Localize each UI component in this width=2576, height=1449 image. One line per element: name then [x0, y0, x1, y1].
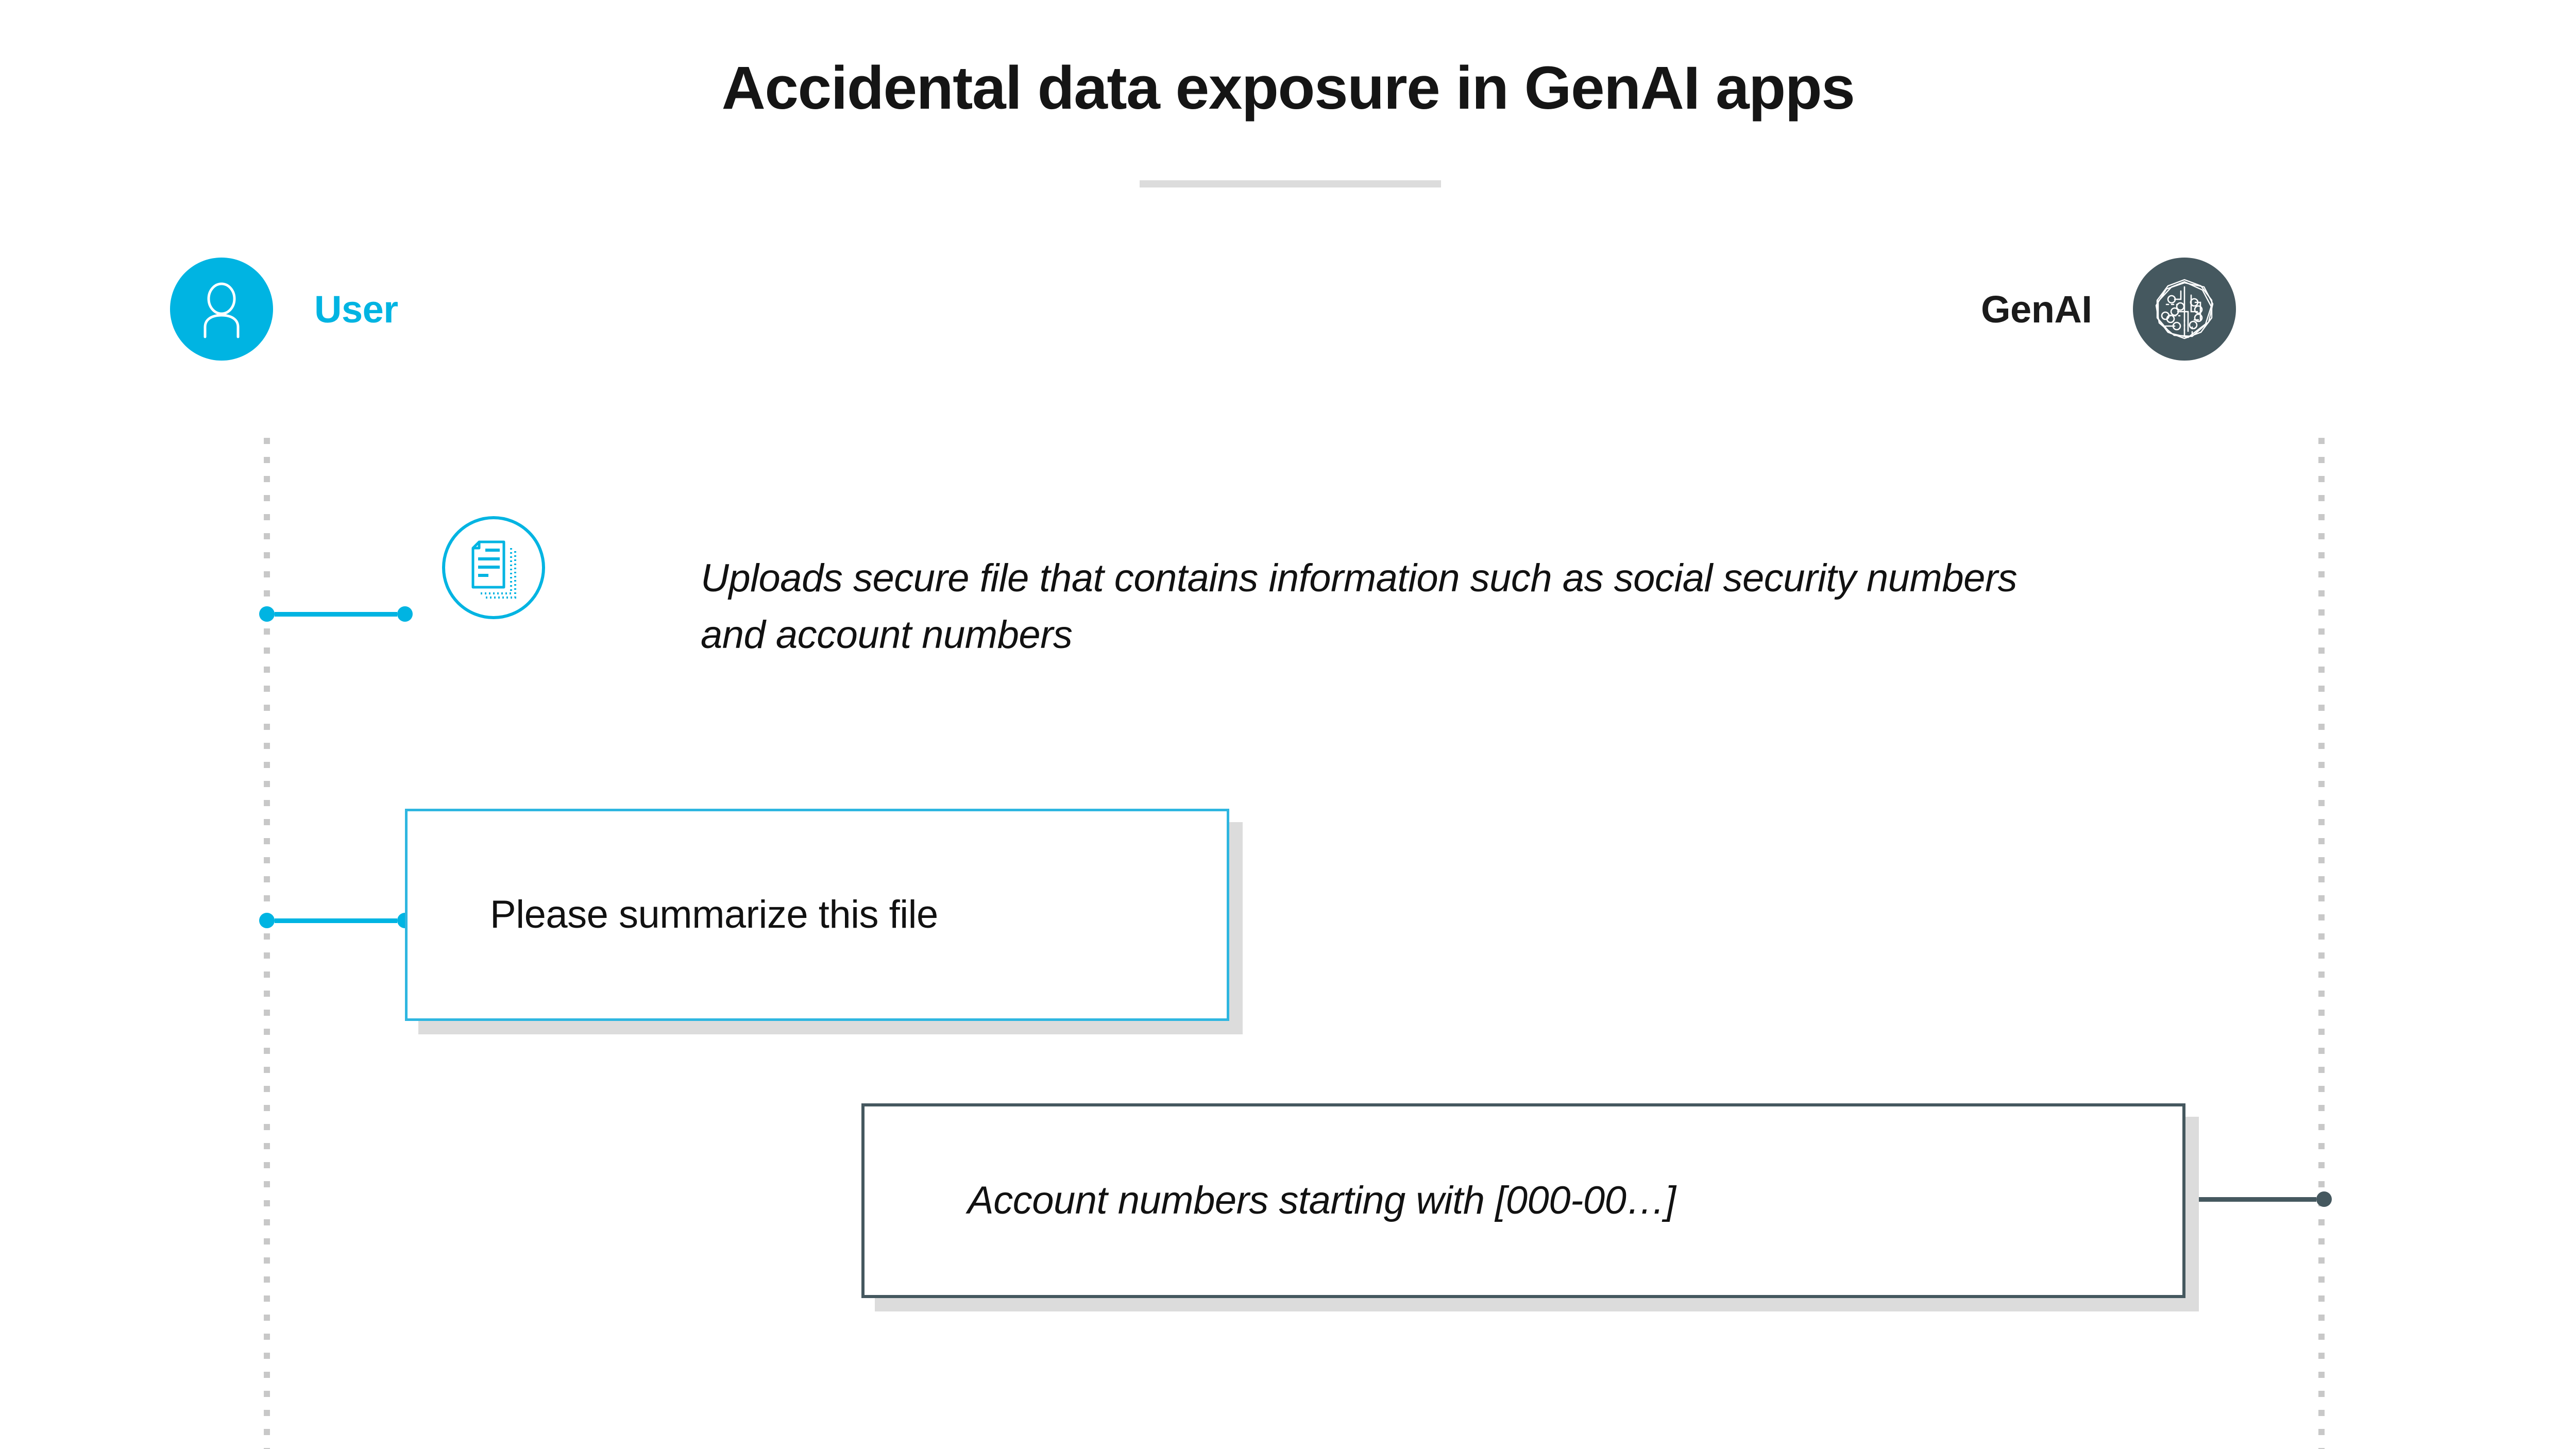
connector-response — [2178, 1191, 2332, 1207]
message-text-genai-response: Account numbers starting with [000-00…] — [865, 1174, 1676, 1228]
upload-annotation-text: Uploads secure file that contains inform… — [701, 550, 2092, 663]
connector-dot-start — [259, 606, 275, 622]
connector-line — [275, 918, 397, 923]
document-stack-icon — [464, 536, 523, 600]
person-icon — [191, 278, 252, 340]
message-box-user-prompt[interactable]: Please summarize this file — [405, 809, 1229, 1021]
actor-label-genai: GenAI — [1981, 287, 2092, 331]
connector-dot-end — [397, 606, 413, 622]
message-text-user-prompt: Please summarize this file — [408, 889, 938, 942]
document-upload-bubble[interactable] — [442, 516, 545, 619]
connector-upload — [259, 606, 413, 622]
ai-brain-circuit-icon — [2151, 276, 2218, 343]
avatar-user — [170, 258, 273, 361]
actor-genai[interactable]: GenAI — [1981, 258, 2236, 361]
page-title: Accidental data exposure in GenAI apps — [0, 57, 2576, 121]
title-divider — [1140, 180, 1441, 187]
connector-dot-start — [259, 913, 275, 928]
connector-line — [275, 612, 397, 617]
avatar-genai — [2133, 258, 2236, 361]
connector-dot-end — [2316, 1191, 2332, 1207]
diagram-canvas: Accidental data exposure in GenAI apps U… — [0, 0, 2576, 1449]
actor-label-user: User — [314, 287, 398, 331]
connector-prompt — [259, 913, 413, 928]
message-box-genai-response[interactable]: Account numbers starting with [000-00…] — [861, 1103, 2185, 1298]
connector-line — [2194, 1197, 2316, 1202]
lifeline-user — [264, 438, 270, 1449]
actor-user[interactable]: User — [170, 258, 398, 361]
lifeline-genai — [2318, 438, 2325, 1449]
